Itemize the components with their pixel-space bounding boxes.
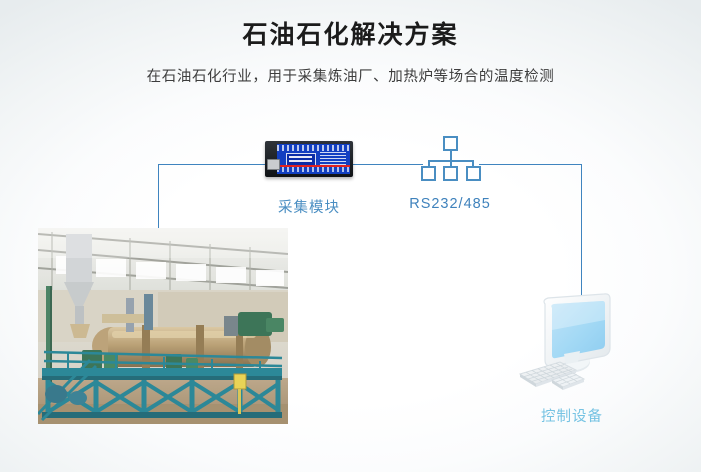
network-node-root xyxy=(443,136,458,151)
desktop-computer-icon xyxy=(518,288,628,396)
refinery-rotary-kiln-photo xyxy=(38,228,288,424)
module-display-row xyxy=(289,160,312,162)
module-db9-connector xyxy=(267,159,280,170)
module-spec-text xyxy=(320,152,346,166)
label-control-device: 控制设备 xyxy=(512,405,632,426)
network-hierarchy-icon xyxy=(421,136,481,182)
solution-diagram-page: 石油石化解决方案 在石油石化行业，用于采集炼油厂、加热炉等场合的温度检测 xyxy=(0,0,701,472)
label-acquisition-module: 采集模块 xyxy=(253,196,365,217)
module-terminal-strip-top xyxy=(277,145,350,151)
network-node-leaf-2 xyxy=(443,166,458,181)
refinery-photo-graphic xyxy=(38,228,288,424)
module-housing xyxy=(265,141,353,177)
network-node-leaf-1 xyxy=(421,166,436,181)
connector-protocol-to-control-horizontal xyxy=(479,164,582,165)
connector-module-to-site-vertical xyxy=(158,164,159,234)
connector-module-to-protocol xyxy=(353,164,423,165)
computer-graphic xyxy=(518,288,628,396)
module-terminal-strip-bottom xyxy=(277,167,350,172)
module-faceplate xyxy=(277,144,350,174)
label-protocol: RS232/485 xyxy=(394,196,506,212)
data-acquisition-module-icon xyxy=(265,141,353,177)
network-node-leaf-3 xyxy=(466,166,481,181)
module-display-row xyxy=(289,156,312,158)
page-subtitle: 在石油石化行业，用于采集炼油厂、加热炉等场合的温度检测 xyxy=(0,66,701,88)
page-header: 石油石化解决方案 在石油石化行业，用于采集炼油厂、加热炉等场合的温度检测 xyxy=(0,18,701,88)
page-title: 石油石化解决方案 xyxy=(0,18,701,52)
connector-module-to-site-horizontal xyxy=(158,164,266,165)
